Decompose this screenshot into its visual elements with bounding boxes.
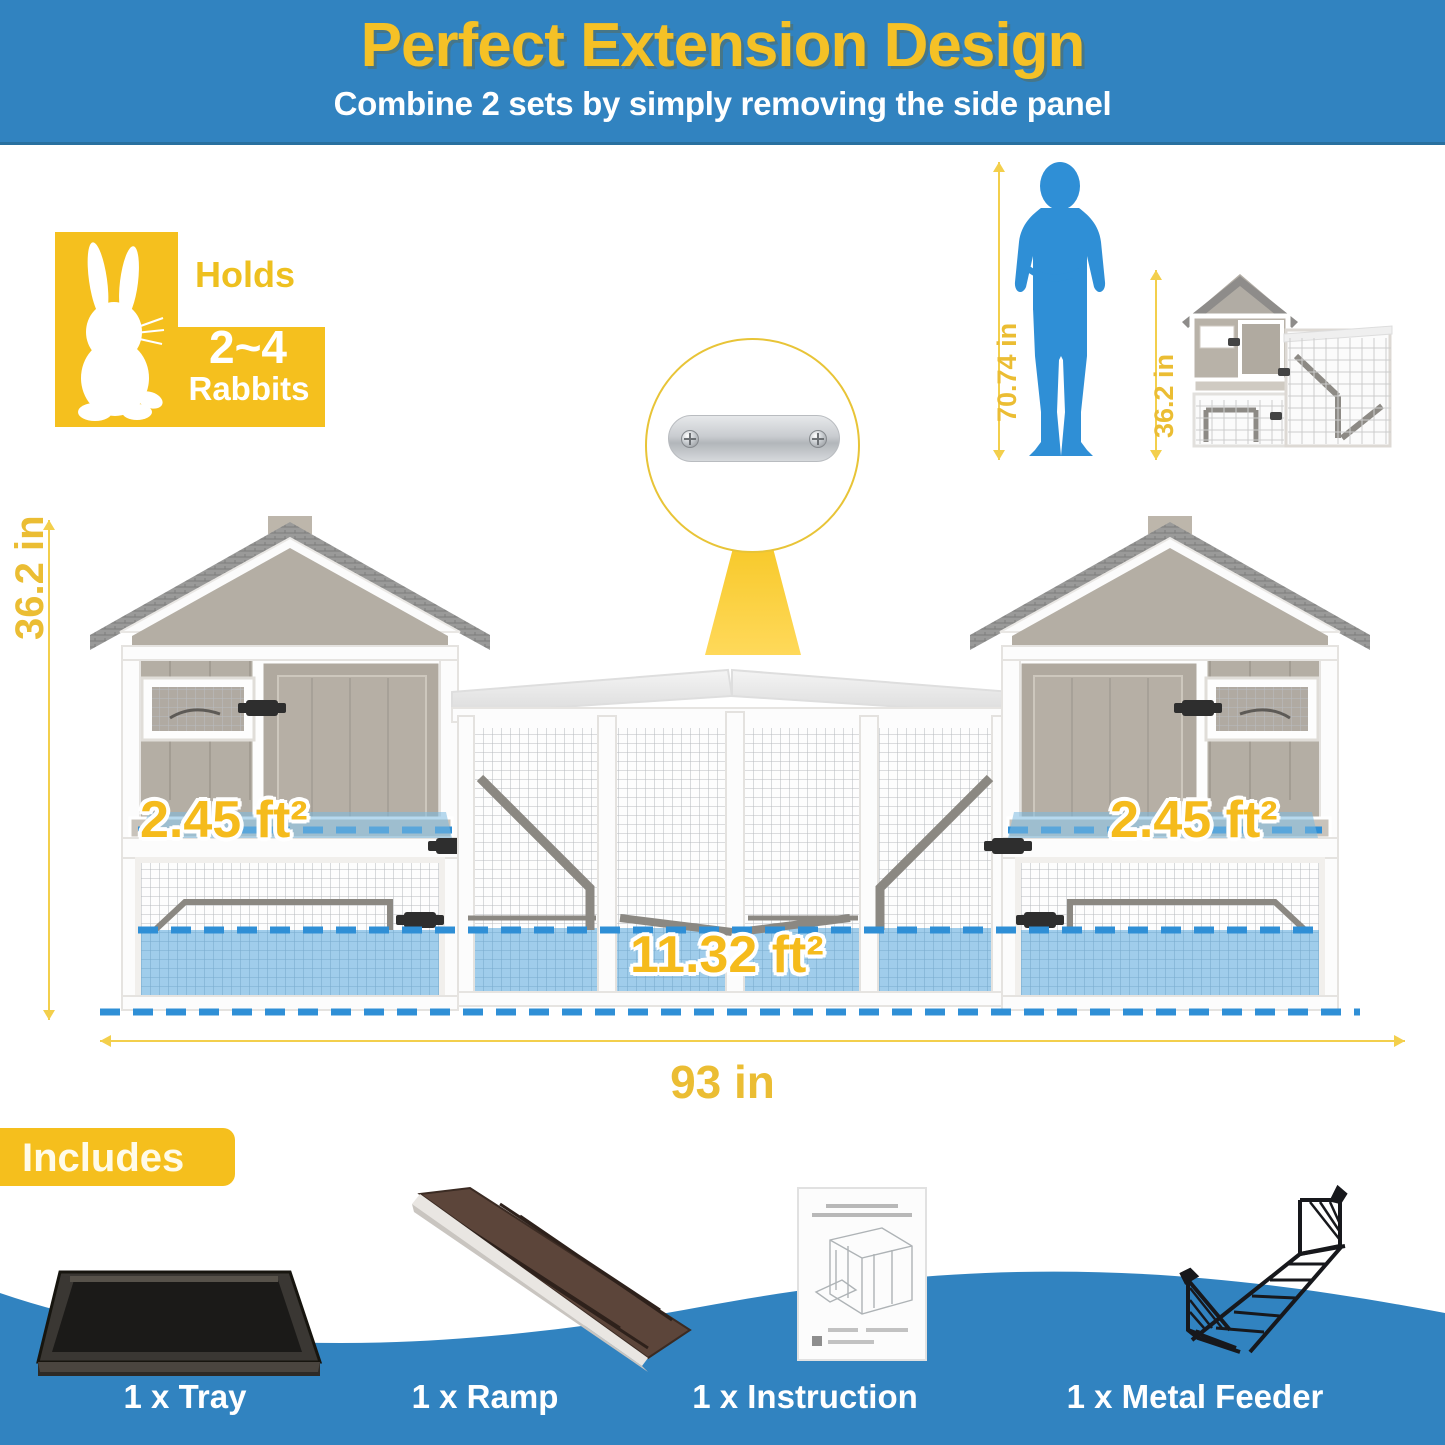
area-label-left: 2.45 ft² xyxy=(140,790,308,850)
page-subtitle: Combine 2 sets by simply removing the si… xyxy=(0,85,1445,123)
person-silhouette-icon xyxy=(995,160,1125,460)
holds-unit: Rabbits xyxy=(173,372,325,406)
hutch-height-label: 36.2 in xyxy=(1149,354,1180,438)
rabbit-silhouette-icon xyxy=(65,240,170,422)
instruction-manual-icon xyxy=(798,1188,926,1360)
area-label-right: 2.45 ft² xyxy=(1110,790,1278,850)
header-banner: Perfect Extension Design Combine 2 sets … xyxy=(0,0,1445,145)
include-label-instruction: 1 x Instruction xyxy=(640,1378,970,1416)
includes-label: Includes xyxy=(22,1136,184,1181)
scale-comparison: 70.74 in 36.2 in xyxy=(950,150,1400,470)
screw-icon-left xyxy=(681,430,699,448)
includes-tab: Includes xyxy=(0,1128,235,1186)
page-title: Perfect Extension Design xyxy=(0,10,1445,81)
include-label-feeder: 1 x Metal Feeder xyxy=(980,1378,1410,1416)
metal-connector-plate-icon xyxy=(668,415,840,462)
holds-count: 2~4 xyxy=(173,324,323,370)
include-label-ramp: 1 x Ramp xyxy=(340,1378,630,1416)
height-dimension-label: 36.2 in xyxy=(8,515,53,640)
plastic-tray-icon xyxy=(38,1272,320,1376)
holds-badge: Holds 2~4 Rabbits xyxy=(55,232,325,427)
width-dimension-label: 93 in xyxy=(0,1055,1445,1109)
metal-hay-feeder-icon xyxy=(1182,1188,1345,1352)
holds-label: Holds xyxy=(195,254,295,296)
hutch-house-right-icon xyxy=(970,516,1370,1010)
single-hutch-thumbnail-icon xyxy=(1178,260,1393,455)
screw-icon-right xyxy=(809,430,827,448)
include-label-tray: 1 x Tray xyxy=(40,1378,330,1416)
wooden-ramp-icon xyxy=(412,1188,690,1372)
hutch-house-left-icon xyxy=(90,516,490,1010)
area-label-run: 11.32 ft² xyxy=(630,925,824,985)
width-dimension-arrow xyxy=(100,1040,1405,1042)
